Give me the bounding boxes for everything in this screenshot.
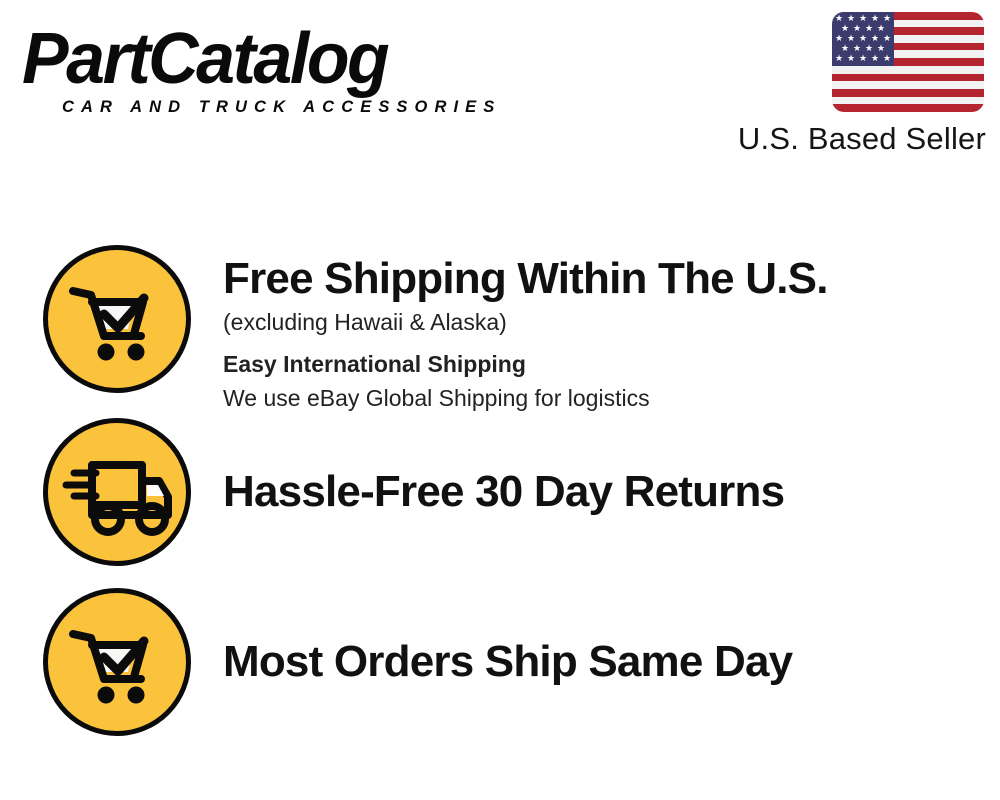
flag-stripe bbox=[832, 74, 984, 82]
feature-subnote: (excluding Hawaii & Alaska) bbox=[223, 306, 983, 339]
brand-wordmark: PartCatalog bbox=[22, 22, 478, 96]
feature-sub-bold: Easy International Shipping bbox=[223, 348, 983, 381]
shopping-cart-check-icon bbox=[43, 245, 191, 393]
seller-badge-label: U.S. Based Seller bbox=[738, 120, 986, 158]
feature-text-block: Free Shipping Within The U.S. (excluding… bbox=[223, 253, 983, 415]
seller-badge: ★ ★ ★ ★ ★ ★ ★ ★ ★ ★ ★ ★ ★ ★ ★ ★ ★ bbox=[686, 12, 986, 162]
flag-stripe bbox=[832, 66, 984, 74]
flag-stripe bbox=[832, 104, 984, 112]
delivery-truck-icon bbox=[43, 418, 191, 566]
flag-stripe bbox=[832, 81, 984, 89]
us-flag-icon: ★ ★ ★ ★ ★ ★ ★ ★ ★ ★ ★ ★ ★ ★ ★ ★ ★ bbox=[832, 12, 984, 112]
brand-tagline: CAR AND TRUCK ACCESSORIES bbox=[62, 98, 501, 116]
flag-stripe bbox=[832, 97, 984, 105]
flag-canton: ★ ★ ★ ★ ★ ★ ★ ★ ★ ★ ★ ★ ★ ★ ★ ★ ★ bbox=[832, 12, 894, 66]
feature-row: Hassle-Free 30 Day Returns bbox=[0, 418, 1000, 573]
feature-row: Most Orders Ship Same Day bbox=[0, 588, 1000, 743]
feature-text-block: Hassle-Free 30 Day Returns bbox=[223, 466, 983, 518]
feature-list: Free Shipping Within The U.S. (excluding… bbox=[0, 180, 1000, 800]
feature-sub-plain: We use eBay Global Shipping for logistic… bbox=[223, 382, 983, 415]
feature-text-block: Most Orders Ship Same Day bbox=[223, 636, 983, 688]
banner-header: PartCatalog CAR AND TRUCK ACCESSORIES ★ bbox=[0, 0, 1000, 175]
feature-heading: Hassle-Free 30 Day Returns bbox=[223, 466, 983, 518]
promo-banner: PartCatalog CAR AND TRUCK ACCESSORIES ★ bbox=[0, 0, 1000, 800]
feature-heading: Free Shipping Within The U.S. bbox=[223, 253, 983, 305]
feature-heading: Most Orders Ship Same Day bbox=[223, 636, 983, 688]
flag-stripe bbox=[832, 89, 984, 97]
feature-row: Free Shipping Within The U.S. (excluding… bbox=[0, 245, 1000, 405]
brand-logo: PartCatalog CAR AND TRUCK ACCESSORIES bbox=[22, 22, 492, 114]
shopping-cart-check-icon bbox=[43, 588, 191, 736]
